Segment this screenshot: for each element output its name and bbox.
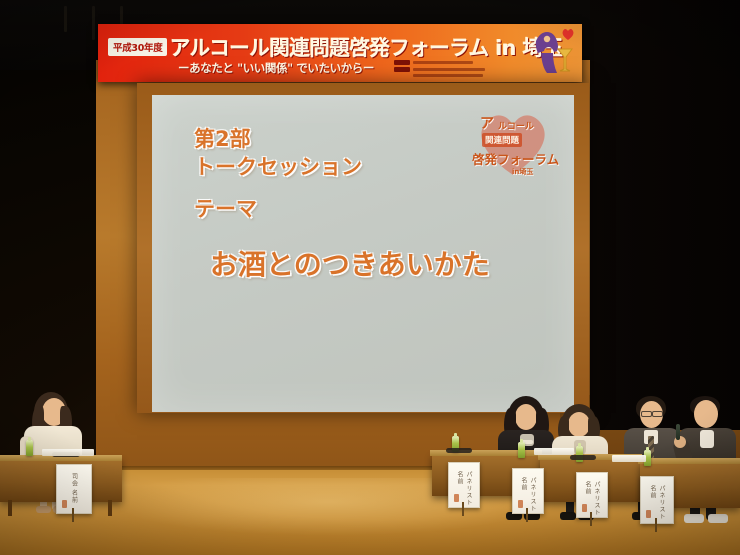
woman-with-cocktail-glass-mascot (528, 27, 576, 79)
glasses-icon-right (652, 411, 663, 417)
tray-2 (446, 448, 472, 453)
banner-credits-block (394, 60, 490, 78)
slide-line-2: トークセッション (194, 151, 362, 181)
placard-logo-icon (454, 494, 459, 502)
glasses-icon (641, 411, 652, 417)
banner-subtitle: ーあなたと "いい関係" でいたいからー (178, 60, 374, 76)
head (515, 404, 537, 430)
projection-screen: 第2部 トークセッション テーマ お酒とのつきあいかた ア ルコール 関連問題 … (152, 95, 574, 412)
auditorium-photo: 平成30年度 アルコール関連問題啓発フォーラム in 埼玉 ーあなたと "いい関… (0, 0, 740, 555)
slide-line-3: テーマ (194, 193, 257, 223)
name-placard-3: パネリスト 名前 (512, 468, 544, 514)
water-bottle-3 (518, 442, 525, 458)
slide-line-1: 第2部 (194, 123, 251, 153)
placard-logo-icon (518, 500, 523, 508)
water-bottle (26, 440, 33, 456)
tray-3 (570, 455, 596, 460)
stage-curtain-right (590, 0, 740, 430)
name-placard: 司会 名前 (56, 464, 92, 514)
logo-line-1-small: ルコール (498, 119, 534, 132)
logo-line-3: 啓発フォーラム (472, 149, 559, 168)
placard-logo-icon (62, 500, 67, 508)
panel-desk-top-3 (638, 458, 740, 464)
forum-logo: ア ルコール 関連問題 啓発フォーラム in埼玉 (468, 107, 560, 185)
banner-title: アルコール関連問題啓発フォーラム in 埼玉 (170, 31, 563, 61)
logo-line-2: 関連問題 (482, 133, 522, 147)
head (568, 412, 590, 437)
event-banner: 平成30年度 アルコール関連問題啓発フォーラム in 埼玉 ーあなたと "いい関… (98, 24, 582, 82)
banner-era-label: 平成30年度 (108, 38, 167, 56)
placard-logo-icon (582, 504, 587, 512)
slide-line-4: お酒とのつきあいかた (210, 243, 490, 283)
microphone-icon (676, 424, 680, 440)
name-placard-5: パネリスト 名前 (640, 476, 674, 524)
placard-logo-icon (646, 510, 651, 518)
placard-text: 司会 名前 (70, 473, 79, 504)
documents-2 (534, 448, 574, 455)
name-placard-2: パネリスト 名前 (448, 462, 480, 508)
logo-line-4: in埼玉 (512, 167, 533, 177)
head (694, 400, 718, 428)
documents (42, 449, 94, 456)
logo-line-1: ア (480, 113, 494, 133)
name-placard-4: パネリスト 名前 (576, 472, 608, 518)
documents-3 (612, 455, 646, 462)
inner-shirt (700, 430, 714, 448)
